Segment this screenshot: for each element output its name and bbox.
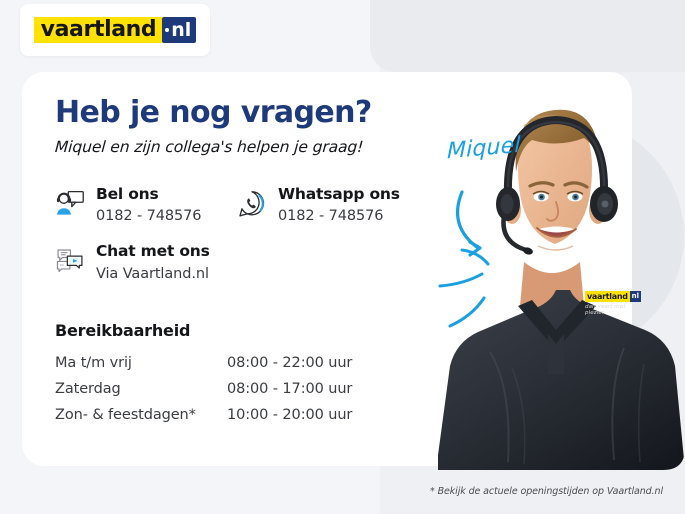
contact-whatsapp-text: Whatsapp ons 0182 - 748576 <box>278 185 400 226</box>
contact-title: Chat met ons <box>96 242 210 260</box>
site-logo[interactable]: vaartland nl <box>20 4 210 56</box>
background-top-panel <box>370 0 685 72</box>
contact-row: Bel ons 0182 - 748576 Whatsapp ons 0182 … <box>55 185 455 226</box>
availability-day: Zaterdag <box>55 377 227 403</box>
contact-phone-number: 0182 - 748576 <box>96 207 201 226</box>
headset-support-icon <box>55 187 85 221</box>
table-row: Zaterdag 08:00 - 17:00 uur <box>55 377 352 403</box>
availability-title: Bereikbaarheid <box>55 321 455 340</box>
logo-lockup: vaartland nl <box>34 17 197 43</box>
contact-row: Chat met ons Via Vaartland.nl <box>55 242 455 283</box>
chat-bubbles-icon <box>55 244 85 278</box>
table-row: Zon- & feestdagen* 10:00 - 20:00 uur <box>55 403 352 429</box>
contact-chat-text: Chat met ons Via Vaartland.nl <box>96 242 210 283</box>
table-row: Ma t/m vrij 08:00 - 22:00 uur <box>55 351 352 377</box>
availability-table: Ma t/m vrij 08:00 - 22:00 uur Zaterdag 0… <box>55 351 352 428</box>
logo-tld-badge: nl <box>162 17 196 43</box>
logo-dot-icon <box>165 28 169 32</box>
availability-section: Bereikbaarheid Ma t/m vrij 08:00 - 22:00… <box>55 321 455 428</box>
shirt-logo: vaartland nl dan vaart met plezier <box>585 291 643 317</box>
shirt-tagline: dan vaart met plezier <box>585 304 643 316</box>
page-subtitle: Miquel en zijn collega's helpen je graag… <box>54 138 364 156</box>
contact-chat-channel: Via Vaartland.nl <box>96 265 210 284</box>
availability-hours: 08:00 - 22:00 uur <box>227 351 352 377</box>
logo-tld-text: nl <box>171 17 191 43</box>
availability-hours: 10:00 - 20:00 uur <box>227 403 352 429</box>
contact-call-text: Bel ons 0182 - 748576 <box>96 185 201 226</box>
whatsapp-icon <box>237 187 267 221</box>
contact-whatsapp[interactable]: Whatsapp ons 0182 - 748576 <box>237 185 400 226</box>
shirt-logo-wordmark: vaartland <box>585 291 630 302</box>
shirt-logo-tld: nl <box>630 291 641 302</box>
logo-wordmark: vaartland <box>34 17 163 43</box>
footnote-text: * Bekijk de actuele openingstijden op Va… <box>430 486 663 497</box>
contact-chat[interactable]: Chat met ons Via Vaartland.nl <box>55 242 237 283</box>
shirt-logo-lockup: vaartland nl <box>585 291 643 302</box>
contact-title: Whatsapp ons <box>278 185 400 203</box>
page-title: Heb je nog vragen? <box>55 96 455 129</box>
contact-phone-number: 0182 - 748576 <box>278 207 400 226</box>
contact-title: Bel ons <box>96 185 159 203</box>
availability-hours: 08:00 - 17:00 uur <box>227 377 352 403</box>
availability-day: Ma t/m vrij <box>55 351 227 377</box>
contact-methods: Bel ons 0182 - 748576 Whatsapp ons 0182 … <box>55 185 455 283</box>
card-content: Heb je nog vragen? Miquel en zijn colleg… <box>55 96 455 429</box>
availability-day: Zon- & feestdagen* <box>55 403 227 429</box>
contact-call-us[interactable]: Bel ons 0182 - 748576 <box>55 185 237 226</box>
